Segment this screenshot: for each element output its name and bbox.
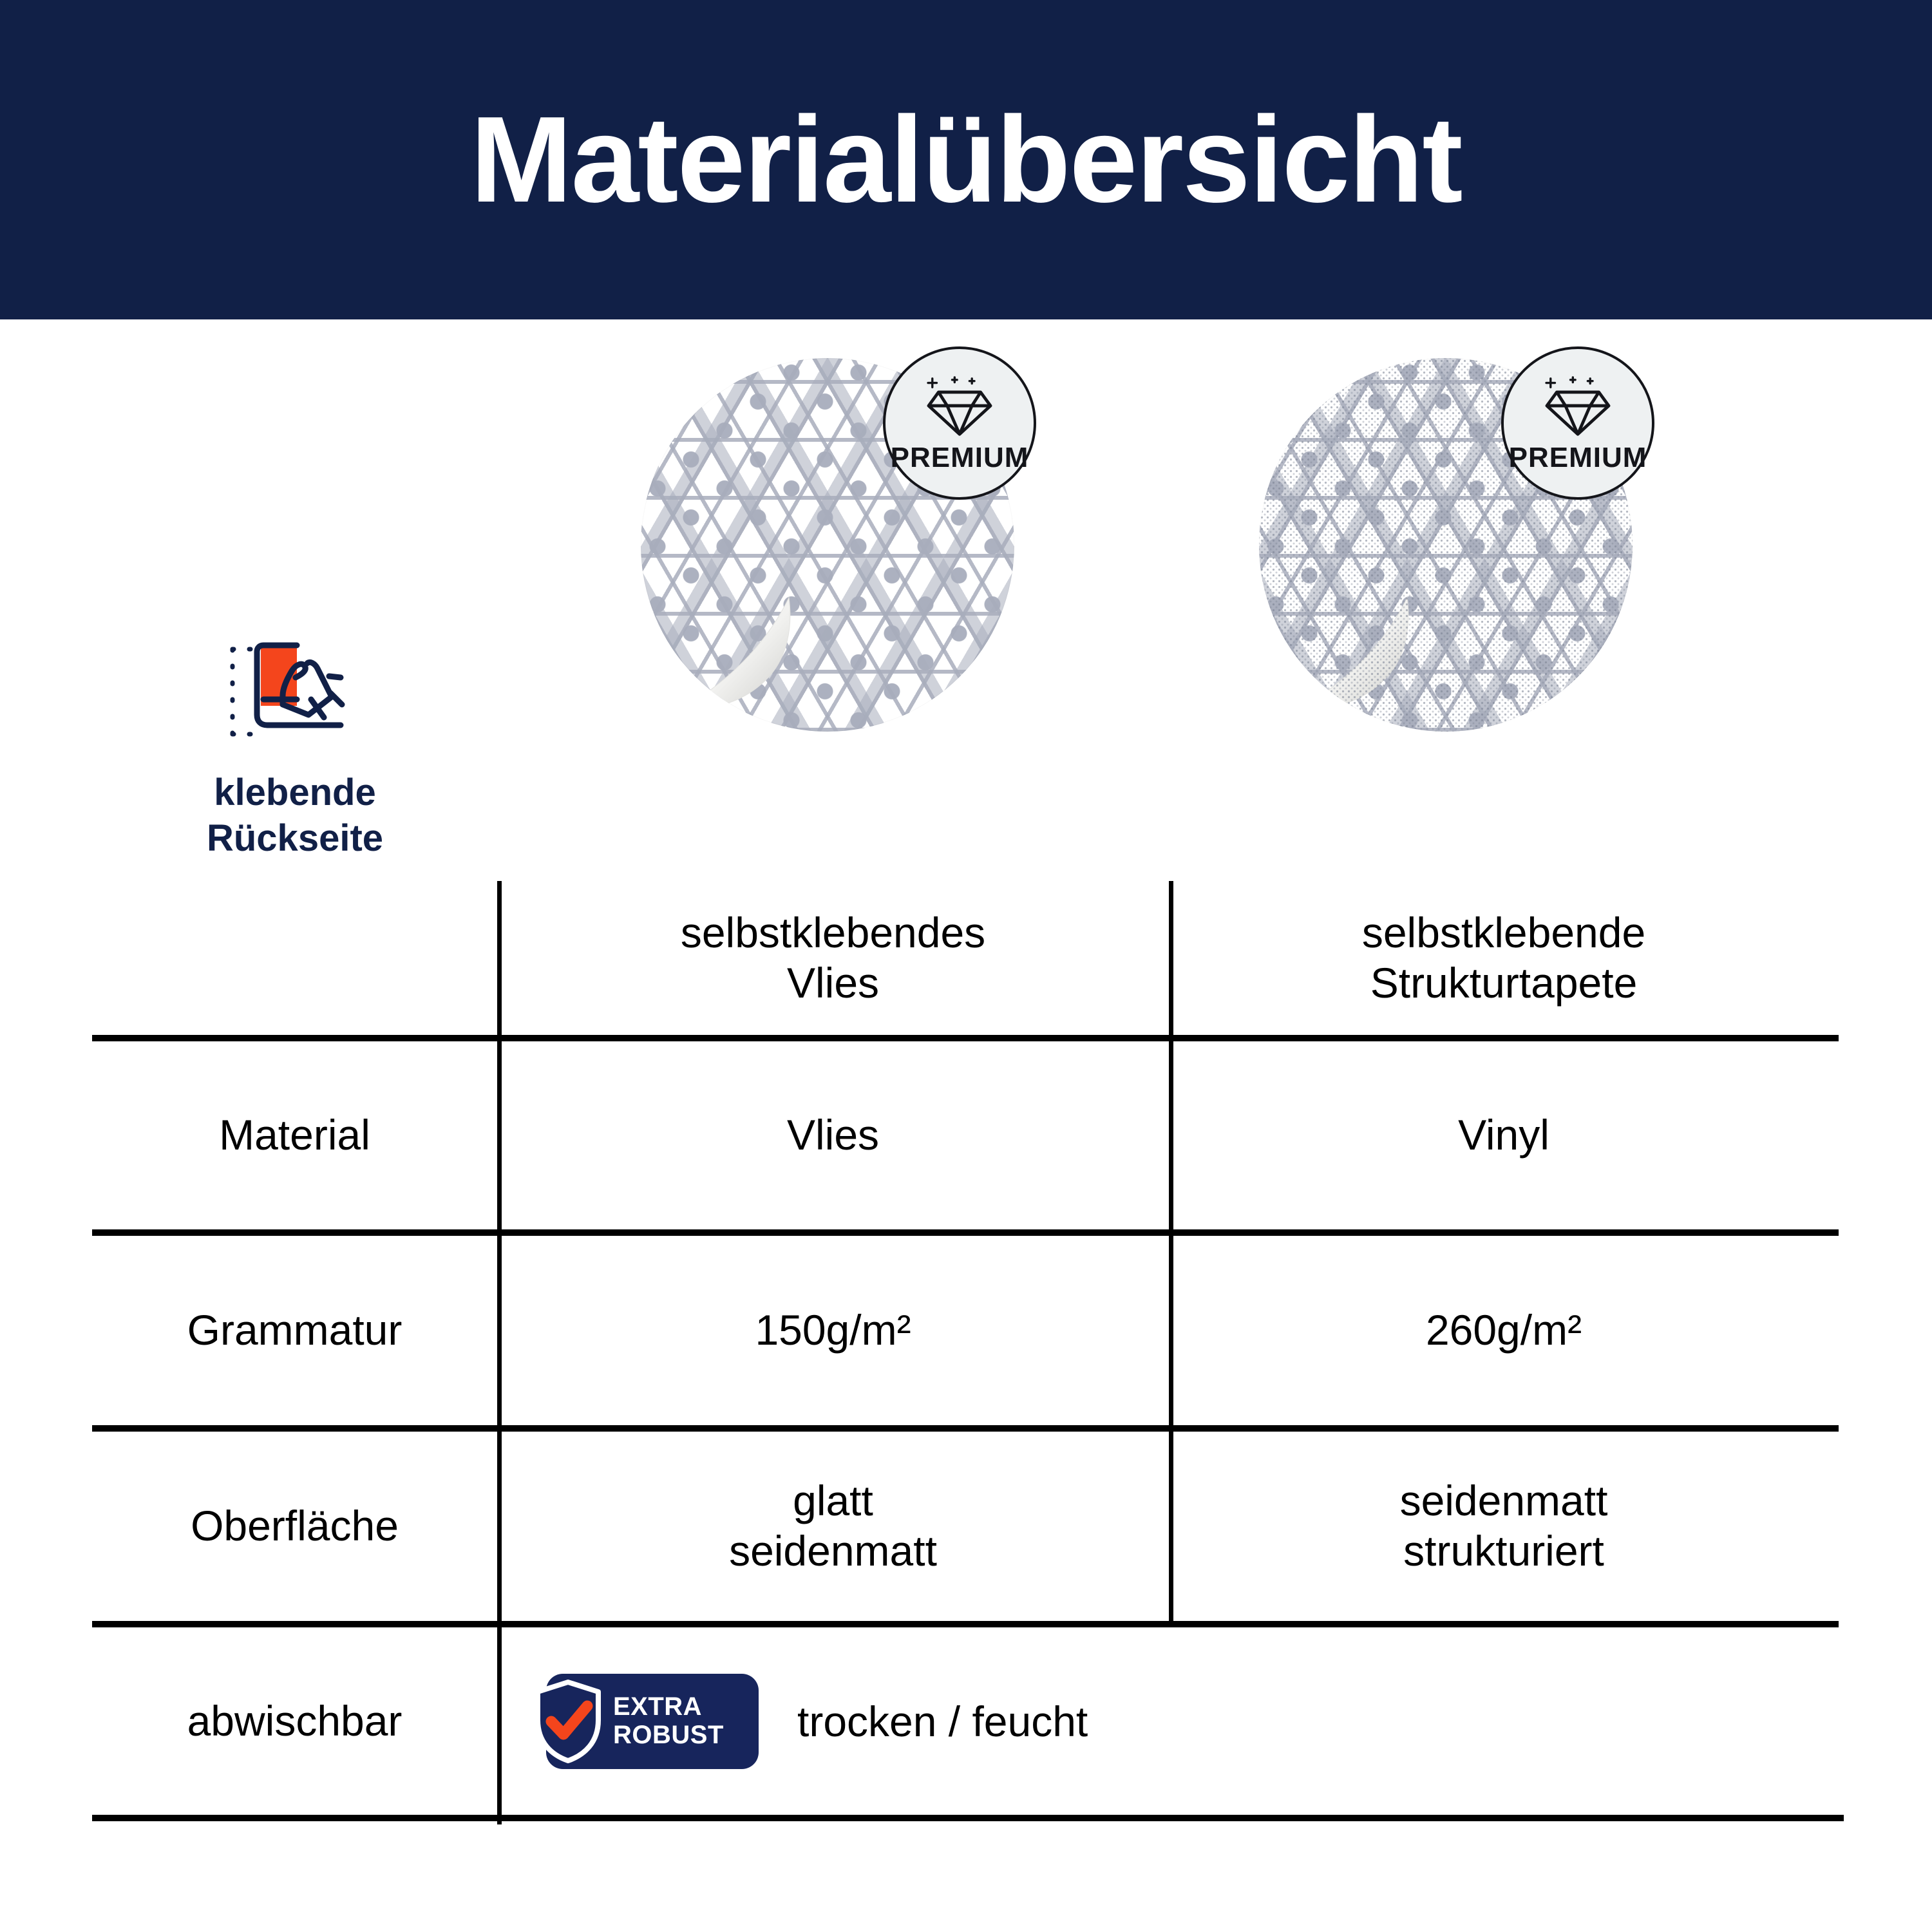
diamond-icon	[922, 376, 998, 438]
page-title: Materialübersicht	[470, 99, 1461, 221]
material-sample-vlies[interactable]: PREMIUM	[641, 358, 1014, 732]
row-divider-1	[92, 1035, 1839, 1041]
feature-caption-line1: klebende	[214, 772, 375, 813]
premium-label: PREMIUM	[1509, 442, 1647, 474]
oberflaeche-col2-line1: seidenmatt	[1400, 1477, 1608, 1524]
table-cell-oberflaeche-col2: seidenmatt strukturiert	[1169, 1432, 1839, 1621]
abwischbar-value-text: trocken / feucht	[797, 1697, 1088, 1746]
premium-badge: PREMIUM	[883, 346, 1036, 500]
table-cell-material-col2: Vinyl	[1169, 1041, 1839, 1229]
premium-label: PREMIUM	[891, 442, 1029, 474]
feature-caption-line2: Rückseite	[207, 817, 383, 859]
table-cell-oberflaeche-col1: glatt seidenmatt	[497, 1432, 1169, 1621]
extra-robust-badge: EXTRA ROBUST	[546, 1674, 759, 1769]
header-col2-line2: Strukturtapete	[1370, 959, 1638, 1007]
material-sample-strukturtapete[interactable]: PREMIUM	[1259, 358, 1633, 732]
page-header: Materialübersicht	[0, 0, 1932, 319]
peel-corner-icon	[1290, 595, 1412, 717]
feature-caption: klebende Rückseite	[207, 770, 383, 862]
table-cell-grammatur-col2: 260g/m²	[1169, 1236, 1839, 1425]
table-cell-material-col1: Vlies	[497, 1041, 1169, 1229]
oberflaeche-col2-line2: strukturiert	[1403, 1527, 1604, 1575]
oberflaeche-col1-line1: glatt	[793, 1477, 873, 1524]
peel-and-stick-icon	[221, 638, 369, 753]
table-row-label-oberflaeche: Oberfläche	[92, 1432, 497, 1621]
shield-check-icon	[532, 1679, 604, 1764]
peel-corner-icon	[672, 595, 794, 717]
header-col1-line1: selbstklebendes	[681, 909, 985, 956]
diamond-icon	[1540, 376, 1616, 438]
table-row-label-abwischbar: abwischbar	[92, 1627, 497, 1815]
extra-robust-line2: ROBUST	[613, 1721, 724, 1749]
row-divider-4	[92, 1621, 1839, 1627]
table-cell-abwischbar-value: EXTRA ROBUST trocken / feucht	[546, 1627, 1088, 1815]
material-comparison-table: klebende Rückseite selbstklebendes Vlies…	[92, 747, 1839, 1824]
premium-badge: PREMIUM	[1501, 346, 1654, 500]
row-divider-2	[92, 1229, 1839, 1236]
row-divider-5	[92, 1815, 1844, 1821]
table-cell-header-col1: selbstklebendes Vlies	[497, 881, 1169, 1035]
feature-peel-and-stick: klebende Rückseite	[92, 638, 498, 862]
extra-robust-label: EXTRA ROBUST	[613, 1693, 724, 1748]
extra-robust-line1: EXTRA	[613, 1692, 702, 1721]
table-cell-grammatur-col1: 150g/m²	[497, 1236, 1169, 1425]
row-divider-3	[92, 1425, 1839, 1432]
header-col1-line2: Vlies	[787, 959, 879, 1007]
table-row-label-material: Material	[92, 1041, 497, 1229]
header-col2-line1: selbstklebende	[1362, 909, 1645, 956]
oberflaeche-col1-line2: seidenmatt	[729, 1527, 937, 1575]
table-cell-header-col2: selbstklebende Strukturtapete	[1169, 881, 1839, 1035]
table-row-label-grammatur: Grammatur	[92, 1236, 497, 1425]
